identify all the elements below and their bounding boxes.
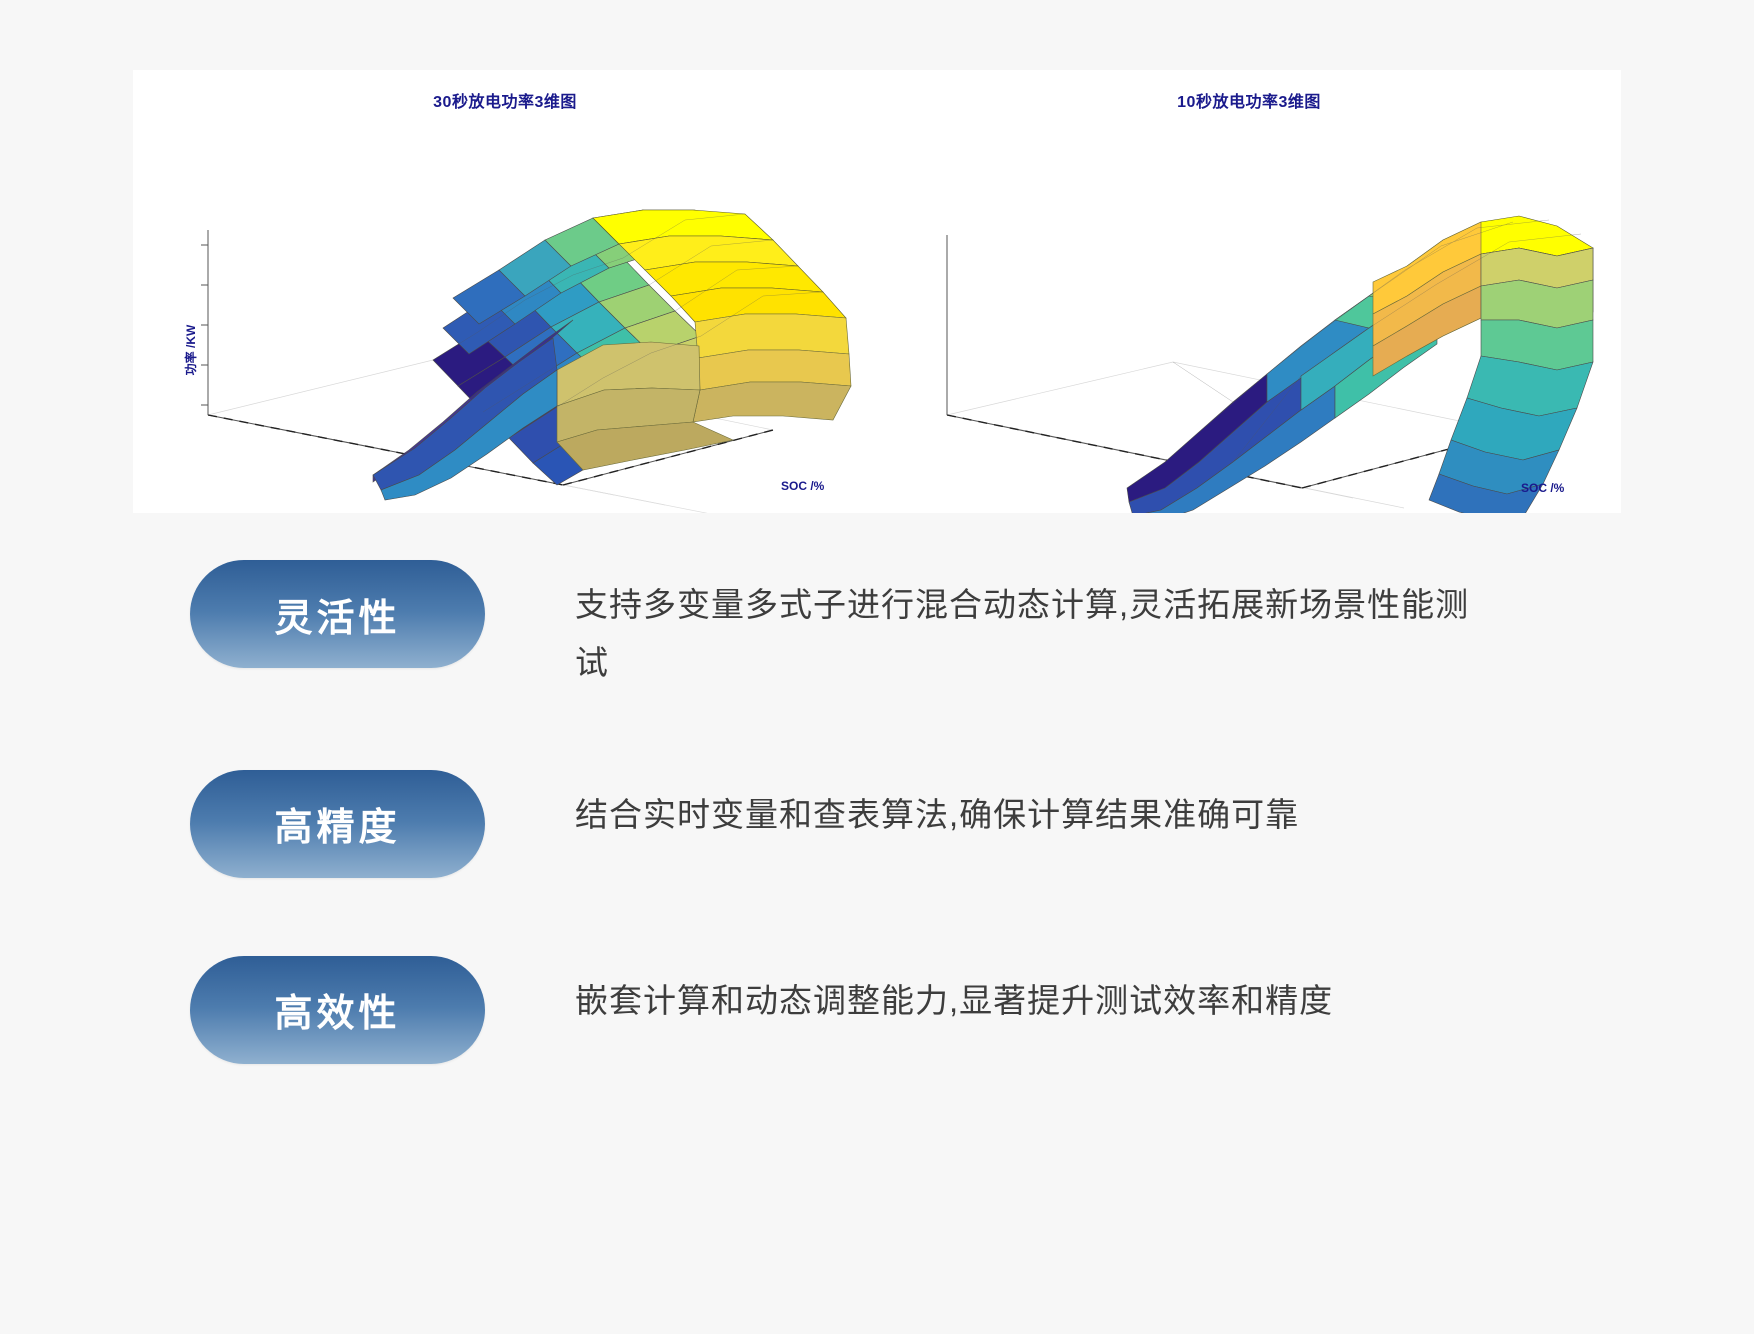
chart-10s-surface: 温度 /摄氏度 SOC /% (877, 70, 1621, 513)
chart-10s-ylabel: SOC /% (1521, 481, 1565, 495)
features-list: 灵活性 支持多变量多式子进行混合动态计算,灵活拓展新场景性能测试 高精度 结合实… (0, 560, 1754, 1064)
chart-30s-surface: 功率 /KW 温度 /摄氏度 SOC /% (133, 70, 877, 513)
feature-badge-wrap: 高效性 (190, 956, 485, 1064)
feature-row: 高效性 嵌套计算和动态调整能力,显著提升测试效率和精度 (0, 956, 1754, 1064)
feature-text-efficiency: 嵌套计算和动态调整能力,显著提升测试效率和精度 (575, 956, 1333, 1030)
charts-panel: 30秒放电功率3维图 (133, 70, 1621, 513)
feature-badge-wrap: 高精度 (190, 770, 485, 878)
feature-text-precision: 结合实时变量和查表算法,确保计算结果准确可靠 (575, 770, 1299, 844)
feature-row: 灵活性 支持多变量多式子进行混合动态计算,灵活拓展新场景性能测试 (0, 560, 1754, 692)
feature-row: 高精度 结合实时变量和查表算法,确保计算结果准确可靠 (0, 770, 1754, 878)
chart-30s: 30秒放电功率3维图 (133, 70, 877, 513)
feature-badge-efficiency[interactable]: 高效性 (190, 956, 485, 1064)
chart-10s: 10秒放电功率3维图 (877, 70, 1621, 513)
feature-badge-wrap: 灵活性 (190, 560, 485, 668)
chart-30s-ylabel: SOC /% (781, 479, 825, 493)
feature-badge-flexibility[interactable]: 灵活性 (190, 560, 485, 668)
feature-text-flexibility: 支持多变量多式子进行混合动态计算,灵活拓展新场景性能测试 (575, 560, 1475, 692)
chart-30s-zlabel: 功率 /KW (183, 324, 198, 375)
feature-badge-precision[interactable]: 高精度 (190, 770, 485, 878)
